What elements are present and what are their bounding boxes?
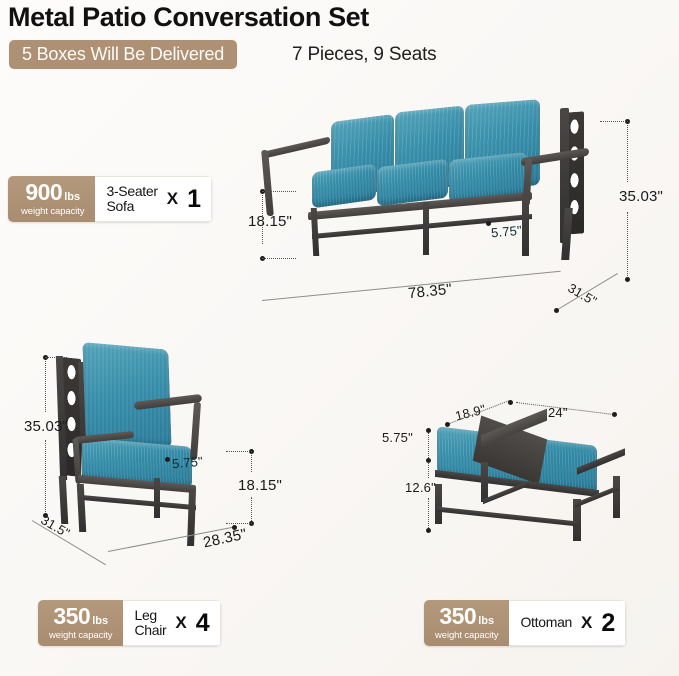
capacity-badge-sofa: 900 lbs weight capacity 3-Seater Sofa X … [8, 176, 212, 222]
sofa-left-armrest [264, 136, 330, 158]
chair-dim-overall-height: 35.03" [24, 418, 68, 435]
capacity-value-sofa: 900 [25, 181, 62, 204]
multiplier-chair: X [175, 613, 186, 633]
ottoman-depth-dot-right [508, 400, 513, 405]
capacity-right-chair: Leg Chair X 4 [123, 600, 220, 646]
capacity-number-row-ottoman: 350 lbs [439, 605, 494, 628]
capacity-right-sofa: 3-Seater Sofa X 1 [95, 176, 212, 222]
item-name-chair-line2: Chair [134, 623, 166, 638]
sofa-seat-cushion-left [312, 164, 376, 209]
ottoman-leg-rear-right [613, 476, 620, 518]
capacity-left-ottoman: 350 lbs weight capacity [424, 600, 509, 646]
boxes-delivered-badge: 5 Boxes Will Be Delivered [9, 40, 237, 69]
capacity-number-row-chair: 350 lbs [53, 605, 108, 628]
chair-arm-support-right [190, 402, 201, 460]
capacity-label-sofa: weight capacity [21, 206, 84, 217]
sofa-dim-overall-height: 35.03" [619, 188, 663, 205]
sofa-seat-height-tick-bottom [262, 258, 296, 259]
chair-lower-stretcher [80, 495, 196, 510]
chair-seat-height-tick-top [226, 451, 252, 452]
sofa-leg-mid [423, 202, 429, 255]
infographic-canvas: Metal Patio Conversation Set 5 Boxes Wil… [0, 0, 679, 676]
sofa-seat-height-leader [262, 192, 263, 244]
capacity-badge-ottoman: 350 lbs weight capacity Ottoman X 2 [424, 600, 626, 646]
item-name-sofa: 3-Seater Sofa [106, 184, 157, 214]
sofa-cushion-dot [486, 221, 491, 226]
item-name-sofa-line1: 3-Seater [106, 184, 157, 199]
capacity-right-ottoman: Ottoman X 2 [509, 600, 626, 646]
ottoman-illustration [437, 428, 617, 528]
sofa-overall-height-leader-2 [627, 212, 628, 276]
page-title: Metal Patio Conversation Set [8, 2, 369, 33]
capacity-unit-ottoman: lbs [478, 615, 494, 627]
item-name-chair-line1: Leg [134, 608, 166, 623]
sofa-dim-cushion-thickness: 5.75" [490, 223, 522, 241]
chair-dim-seat-height: 18.15" [238, 477, 282, 494]
chair-overall-height-leader-bottom [45, 440, 46, 512]
sofa-leg-front-right [522, 194, 529, 256]
chair-width-dot-right [232, 525, 237, 530]
pieces-seats-label: 7 Pieces, 9 Seats [292, 44, 436, 66]
capacity-number-row-sofa: 900 lbs [25, 181, 80, 204]
boxes-delivered-label: 5 Boxes Will Be Delivered [22, 44, 224, 65]
sofa-overall-top-tick [600, 121, 628, 122]
sofa-overall-height-leader [627, 122, 628, 182]
ottoman-depth-dot-left [445, 422, 450, 427]
quantity-sofa: 1 [187, 187, 201, 212]
ottoman-cushion-leader [428, 430, 429, 458]
ottoman-height-dot-bottom [426, 528, 431, 533]
chair-seat-height-leader-2 [251, 497, 252, 521]
chair-overall-top-tick [45, 357, 67, 358]
ottoman-cushion-dot-top [426, 428, 431, 433]
capacity-badge-chair: 350 lbs weight capacity Leg Chair X 4 [38, 600, 221, 646]
chair-cushion-dot [165, 457, 170, 462]
chair-leg-rear-left [59, 476, 69, 524]
sofa-overall-height-dot-bottom [625, 277, 630, 282]
chair-seat-height-leader [251, 452, 252, 472]
ottoman-stretcher-front [437, 507, 577, 527]
ottoman-leg-rear-left [481, 462, 488, 502]
sofa-dim-seat-height: 18.15" [248, 213, 292, 230]
multiplier-ottoman: X [581, 613, 592, 633]
quantity-chair: 4 [196, 611, 210, 636]
capacity-left-chair: 350 lbs weight capacity [38, 600, 123, 646]
chair-leg-front-right [187, 492, 196, 546]
chair-overall-height-leader-top [45, 358, 46, 412]
ottoman-height-leader-2 [428, 498, 429, 528]
capacity-value-chair: 350 [53, 605, 90, 628]
item-name-ottoman-line1: Ottoman [520, 615, 572, 630]
ottoman-leg-front-left [435, 484, 442, 524]
ottoman-width-dot-right [612, 412, 617, 417]
chair-illustration [62, 350, 252, 540]
item-name-ottoman: Ottoman [520, 615, 572, 630]
capacity-value-ottoman: 350 [439, 605, 476, 628]
item-name-sofa-line2: Sofa [106, 199, 157, 214]
sofa-illustration [268, 96, 608, 311]
sofa-seat-height-tick-top [262, 191, 296, 192]
chair-dim-cushion-thickness: 5.75" [171, 454, 203, 472]
sofa-depth-dot [554, 308, 559, 313]
ottoman-dim-height: 12.6" [405, 480, 436, 495]
multiplier-sofa: X [167, 189, 178, 209]
sofa-left-arm-support [261, 150, 274, 216]
capacity-label-chair: weight capacity [49, 630, 112, 641]
capacity-unit-chair: lbs [92, 615, 108, 627]
chair-leg-rear-right [154, 478, 160, 518]
capacity-label-ottoman: weight capacity [435, 630, 498, 641]
ottoman-height-leader [428, 462, 429, 478]
capacity-unit-sofa: lbs [64, 191, 80, 203]
ottoman-dim-cushion-thickness: 5.75" [382, 430, 413, 445]
item-name-chair: Leg Chair [134, 608, 166, 638]
quantity-ottoman: 2 [601, 611, 615, 636]
chair-seat-height-tick-bottom [226, 523, 252, 524]
sofa-seat-cushion-center [377, 159, 448, 207]
capacity-left-sofa: 900 lbs weight capacity [8, 176, 95, 222]
chair-leg-front-left [77, 484, 87, 532]
